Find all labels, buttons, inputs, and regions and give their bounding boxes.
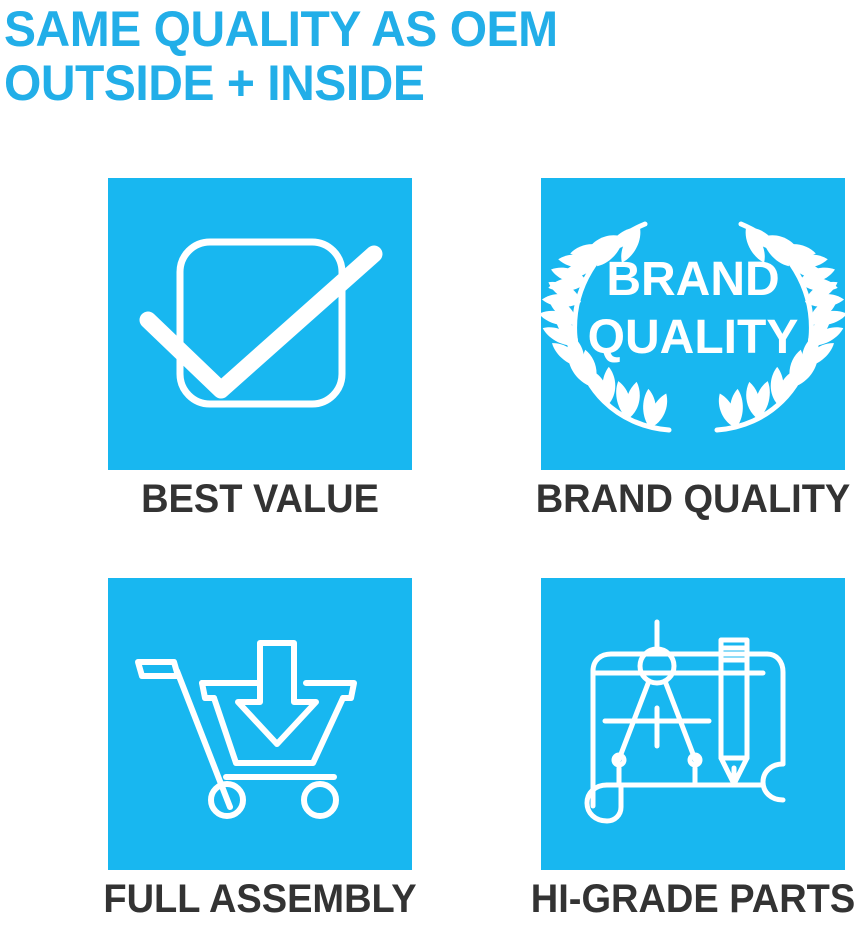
feature-label: FULL ASSEMBLY	[103, 876, 416, 922]
feature-label: BEST VALUE	[141, 476, 379, 522]
feature-tile: BRAND QUALITY	[541, 178, 845, 470]
laurel-wreath-icon: BRAND QUALITY	[541, 178, 845, 470]
wreath-text-brand: BRAND	[606, 253, 779, 306]
shopping-cart-download-icon	[108, 578, 412, 870]
feature-tile	[541, 578, 845, 870]
feature-item-hi-grade-parts: HI-GRADE PARTS	[541, 578, 845, 870]
feature-label: BRAND QUALITY	[536, 476, 851, 522]
wreath-text-quality: QUALITY	[588, 311, 799, 364]
feature-item-best-value: BEST VALUE	[108, 178, 412, 470]
feature-item-brand-quality: BRAND QUALITY BRAND QUALITY	[541, 178, 845, 470]
feature-item-full-assembly: FULL ASSEMBLY	[108, 578, 412, 870]
feature-tile	[108, 178, 412, 470]
promo-graphic: SAME QUALITY AS OEM OUTSIDE + INSIDE BES…	[0, 0, 862, 929]
feature-grid: BEST VALUE	[0, 0, 862, 929]
blueprint-compass-pencil-icon	[541, 578, 845, 870]
feature-tile	[108, 578, 412, 870]
feature-label: HI-GRADE PARTS	[531, 876, 855, 922]
checkbox-check-icon	[108, 178, 412, 470]
